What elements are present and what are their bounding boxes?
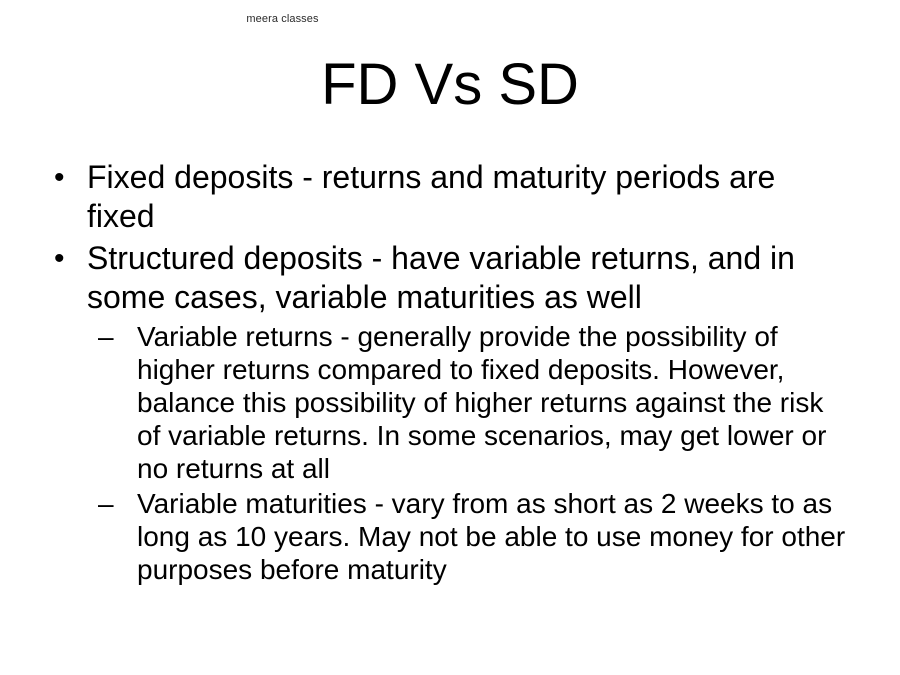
bullet-item-2: • Structured deposits - have variable re… [48, 239, 852, 586]
presentation-slide: meera classes FD Vs SD • Fixed deposits … [0, 0, 900, 675]
slide-header-note: meera classes [0, 12, 900, 26]
sub-bullet-item-2: – Variable maturities - vary from as sho… [96, 487, 852, 586]
bullet-text: Fixed deposits - returns and maturity pe… [87, 158, 844, 236]
bullet-dot-icon: • [54, 239, 78, 278]
bullet-list: • Fixed deposits - returns and maturity … [48, 158, 852, 586]
bullet-item-1: • Fixed deposits - returns and maturity … [48, 158, 852, 236]
bullet-dash-icon: – [98, 320, 124, 353]
slide-body: • Fixed deposits - returns and maturity … [48, 158, 852, 589]
sub-bullet-text: Variable returns - generally provide the… [137, 320, 849, 485]
sub-bullet-text: Variable maturities - vary from as short… [137, 487, 849, 586]
bullet-dash-icon: – [98, 487, 124, 520]
slide-title: FD Vs SD [0, 51, 900, 119]
sub-bullet-item-1: – Variable returns - generally provide t… [96, 320, 852, 485]
sub-bullet-list: – Variable returns - generally provide t… [87, 320, 852, 586]
bullet-text: Structured deposits - have variable retu… [87, 239, 844, 317]
bullet-dot-icon: • [54, 158, 78, 197]
